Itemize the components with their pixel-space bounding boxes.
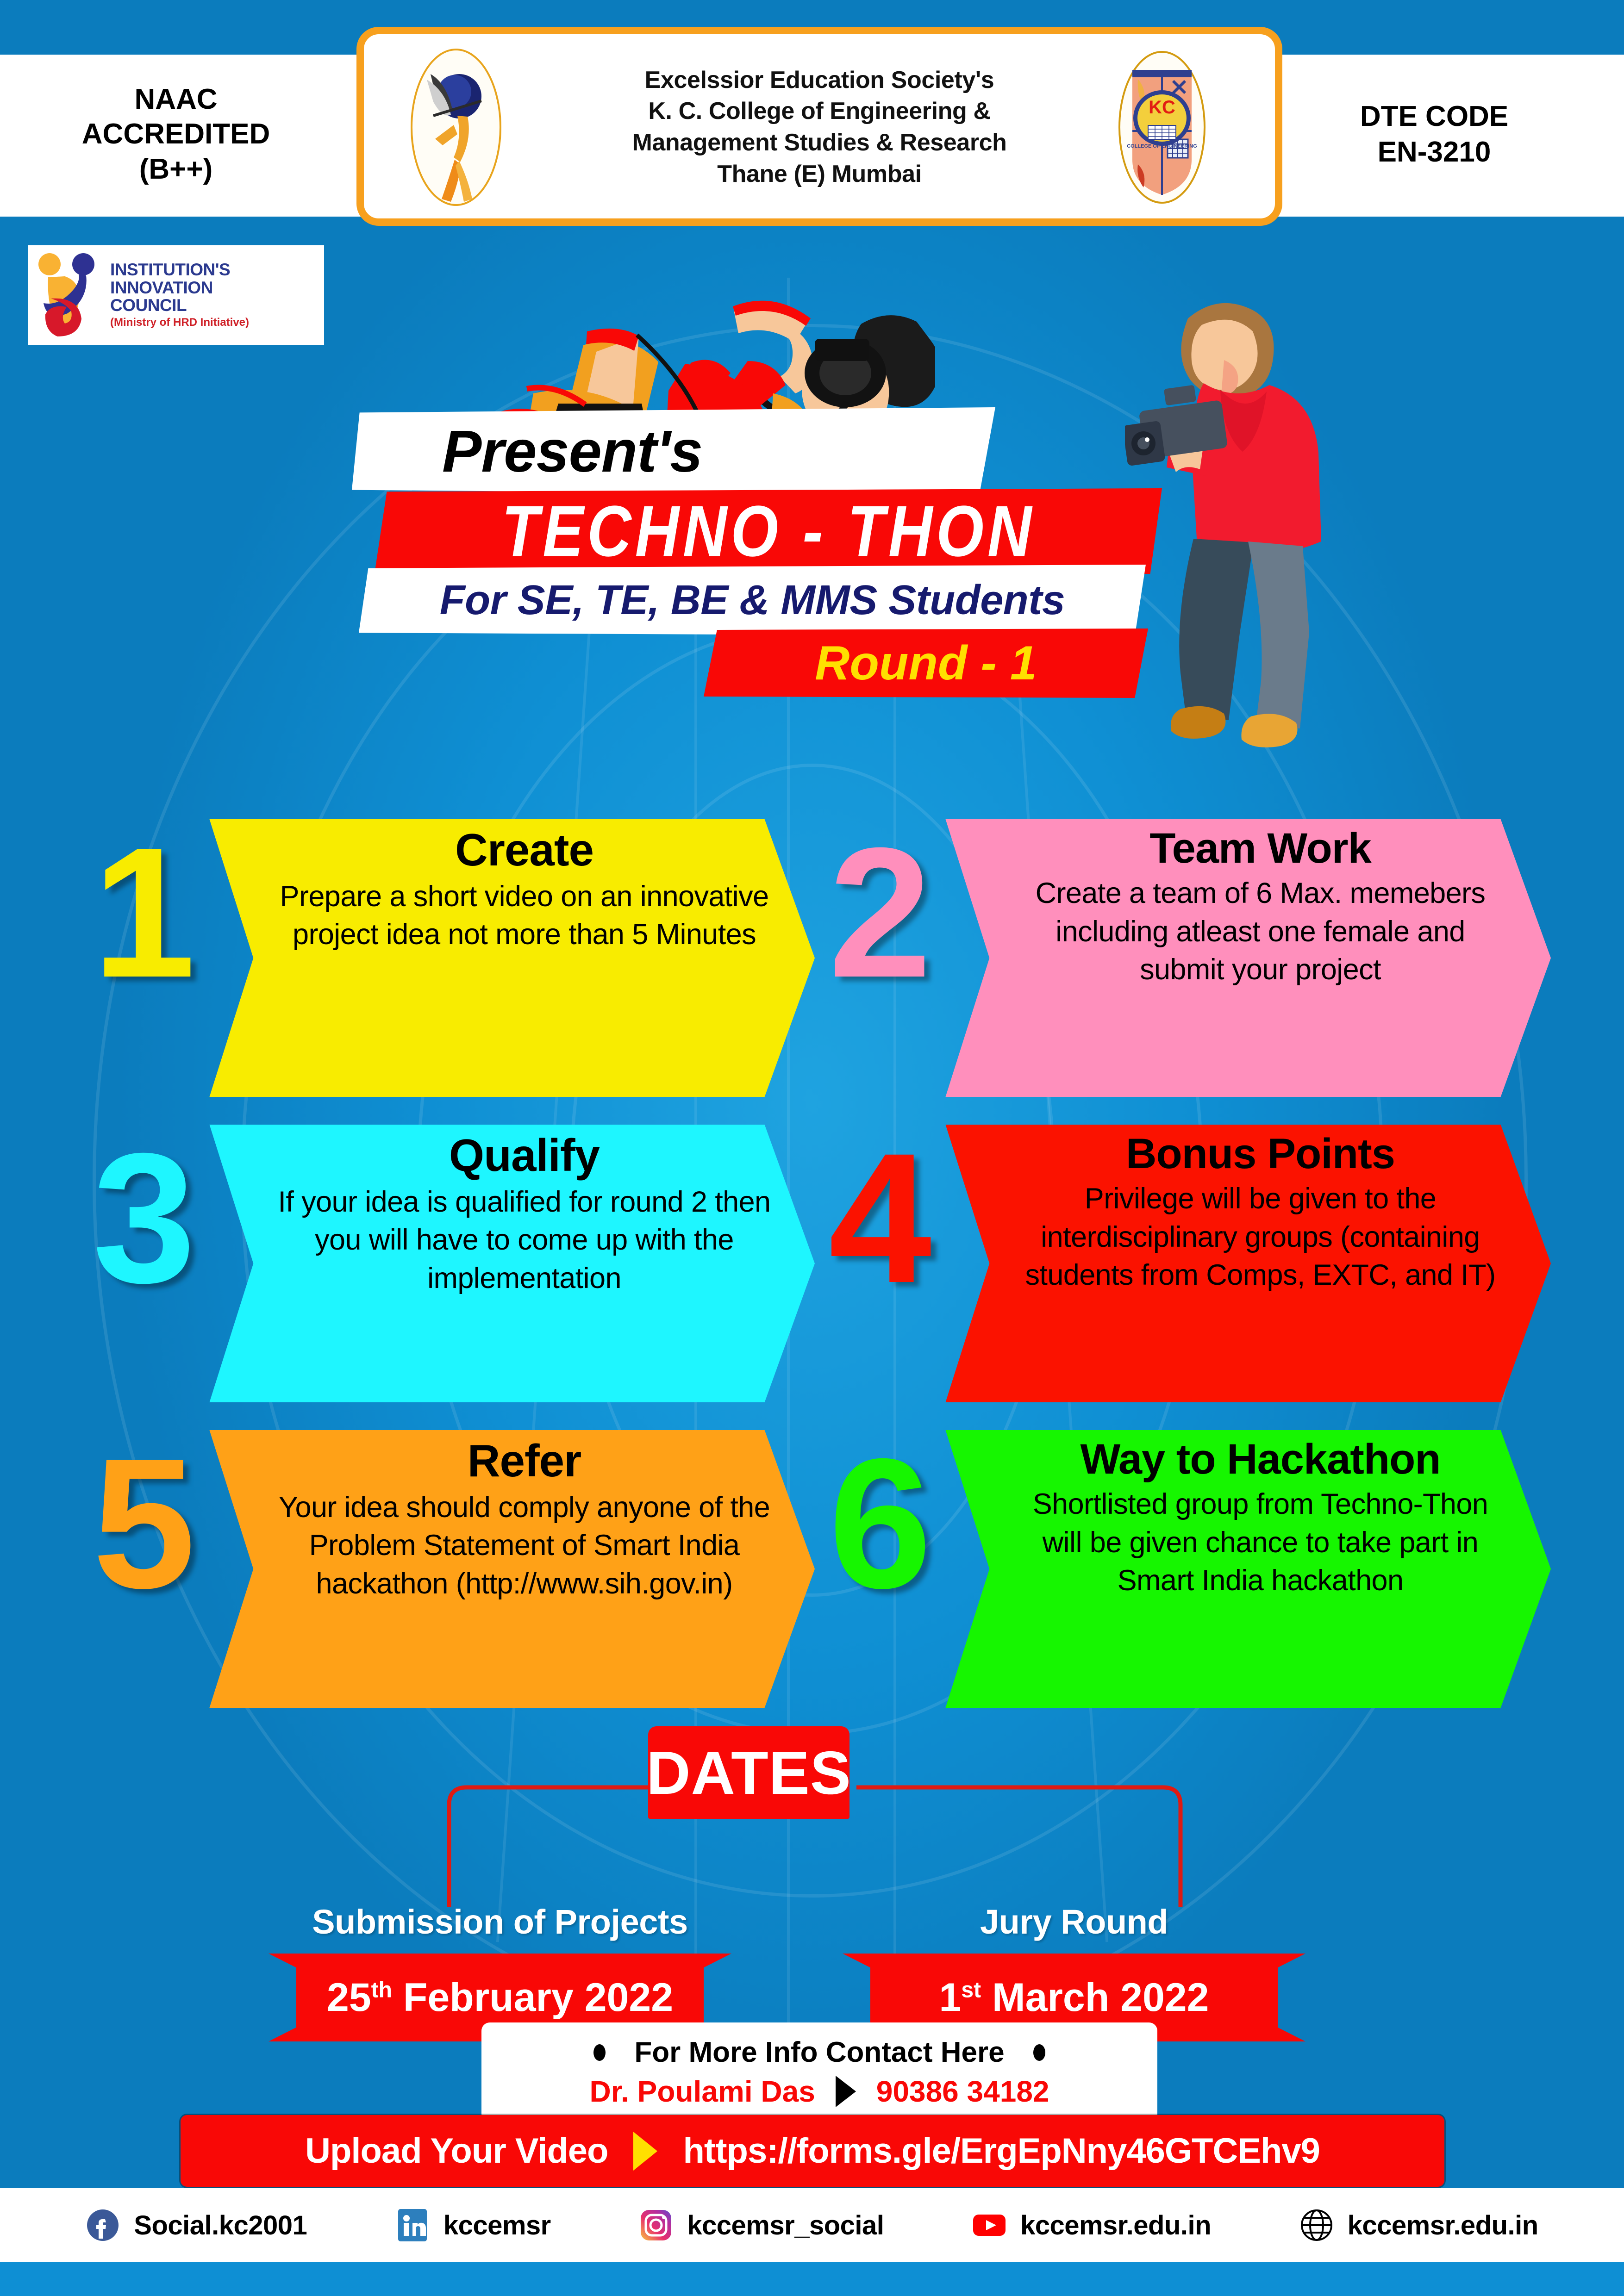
- social-footer: Social.kc2001 kccemsr kcce: [0, 2188, 1624, 2262]
- social-item-linkedin[interactable]: kccemsr: [395, 2208, 551, 2242]
- event-title-ribbon: TECHNO - THON: [375, 488, 1162, 574]
- college-line-2: K. C. College of Engineering &: [648, 96, 990, 127]
- college-line-4: Thane (E) Mumbai: [717, 159, 921, 190]
- step-number-1: 1: [93, 831, 195, 994]
- globe-icon[interactable]: [1299, 2208, 1334, 2242]
- iic-text: INSTITUTION'S INNOVATION COUNCIL (Minist…: [110, 261, 249, 329]
- step-text-2: Create a team of 6 Max. memebers includi…: [1012, 874, 1509, 989]
- step-title-1: Create: [455, 826, 593, 875]
- bullet-dot-left-icon: [593, 2044, 606, 2061]
- contact-person-row: Dr. Poulami Das 90386 34182: [590, 2074, 1049, 2109]
- upload-video-bar[interactable]: Upload Your Video https://forms.gle/ErgE…: [181, 2115, 1444, 2187]
- instagram-icon[interactable]: [639, 2208, 673, 2242]
- step-number-5: 5: [93, 1442, 195, 1605]
- step-number-4: 4: [829, 1137, 931, 1300]
- contact-phone-number[interactable]: 90386 34182: [876, 2074, 1049, 2109]
- excelssior-education-society-logo: [403, 46, 509, 208]
- naac-accreditation: NAAC ACCREDITED (B++): [28, 65, 324, 204]
- step-text-6: Shortlisted group from Techno-Thon will …: [1012, 1485, 1509, 1600]
- step-body-1: Create Prepare a short video on an innov…: [187, 819, 815, 1097]
- step-body-6: Way to Hackathon Shortlisted group from …: [924, 1430, 1551, 1708]
- step-body-2: Team Work Create a team of 6 Max. memebe…: [924, 819, 1551, 1097]
- linkedin-handle: kccemsr: [443, 2210, 551, 2241]
- upload-form-link[interactable]: https://forms.gle/ErgEpNny46GTCEhv9: [683, 2131, 1319, 2171]
- social-item-facebook[interactable]: Social.kc2001: [86, 2208, 307, 2242]
- social-item-instagram[interactable]: kccemsr_social: [639, 2208, 884, 2242]
- bullet-dot-right-icon: [1033, 2044, 1045, 2061]
- facebook-handle: Social.kc2001: [134, 2210, 307, 2241]
- arrow-right-icon: [836, 2076, 856, 2107]
- naac-line-1: NAAC: [134, 82, 217, 117]
- youtube-handle: kccemsr.edu.in: [1020, 2210, 1211, 2241]
- svg-text:KC: KC: [1149, 97, 1175, 118]
- college-line-1: Excelssior Education Society's: [645, 65, 994, 96]
- steps-grid: 1 Create Prepare a short video on an inn…: [0, 819, 1624, 1712]
- iic-line-3: COUNCIL: [110, 297, 249, 314]
- iic-line-1: INSTITUTION'S: [110, 261, 249, 279]
- date-value-submission: 25th February 2022: [327, 1975, 673, 2021]
- iic-logo-block: INSTITUTION'S INNOVATION COUNCIL (Minist…: [28, 245, 324, 345]
- contact-card: For More Info Contact Here Dr. Poulami D…: [481, 2022, 1157, 2122]
- dte-line-1: DTE CODE: [1360, 99, 1508, 135]
- naac-line-3: (B++): [139, 152, 212, 187]
- step-card-1: 1 Create Prepare a short video on an inn…: [93, 819, 815, 1097]
- step-body-3: Qualify If your idea is qualified for ro…: [187, 1125, 815, 1402]
- date-column-jury: Jury Round 1st March 2022: [829, 1902, 1319, 2041]
- website-handle: kccemsr.edu.in: [1348, 2210, 1538, 2241]
- contact-heading: For More Info Contact Here: [634, 2036, 1004, 2069]
- dates-section: DATES Submission of Projects 25th Februa…: [0, 1708, 1624, 2022]
- step-card-4: 4 Bonus Points Privilege will be given t…: [829, 1125, 1551, 1402]
- event-title-text: TECHNO - THON: [502, 490, 1036, 572]
- iic-line-4: (Ministry of HRD Initiative): [110, 316, 249, 329]
- upload-label: Upload Your Video: [305, 2131, 608, 2171]
- iic-mark-icon: [34, 252, 104, 338]
- step-title-4: Bonus Points: [1126, 1131, 1395, 1177]
- linkedin-icon[interactable]: [395, 2208, 430, 2242]
- footer-blue-strip: [0, 2262, 1624, 2296]
- step-title-6: Way to Hackathon: [1080, 1437, 1440, 1482]
- step-text-4: Privilege will be given to the interdisc…: [1012, 1180, 1509, 1294]
- step-body-4: Bonus Points Privilege will be given to …: [924, 1125, 1551, 1402]
- social-item-website[interactable]: kccemsr.edu.in: [1299, 2208, 1538, 2242]
- presents-ribbon: Present's: [352, 407, 995, 495]
- step-text-3: If your idea is qualified for round 2 th…: [275, 1183, 773, 1298]
- college-name: Excelssior Education Society's K. C. Col…: [523, 42, 1116, 213]
- dte-line-2: EN-3210: [1378, 134, 1491, 170]
- step-title-3: Qualify: [449, 1131, 600, 1180]
- step-card-6: 6 Way to Hackathon Shortlisted group fro…: [829, 1430, 1551, 1708]
- step-card-2: 2 Team Work Create a team of 6 Max. meme…: [829, 819, 1551, 1097]
- step-card-5: 5 Refer Your idea should comply anyone o…: [93, 1430, 815, 1708]
- step-number-6: 6: [829, 1442, 931, 1605]
- date-label-submission: Submission of Projects: [255, 1902, 745, 1941]
- dte-code: DTE CODE EN-3210: [1272, 69, 1596, 199]
- round-text: Round - 1: [815, 636, 1037, 691]
- step-text-1: Prepare a short video on an innovative p…: [275, 877, 773, 954]
- youtube-icon[interactable]: [972, 2208, 1006, 2242]
- svg-text:COLLEGE OF ENGINEERING: COLLEGE OF ENGINEERING: [1127, 143, 1197, 149]
- kc-college-crest-logo: KC COLLEGE OF ENGINEERING: [1111, 49, 1213, 206]
- college-line-3: Management Studies & Research: [632, 127, 1006, 159]
- date-column-submission: Submission of Projects 25th February 202…: [255, 1902, 745, 2041]
- step-number-3: 3: [93, 1137, 195, 1300]
- instagram-handle: kccemsr_social: [687, 2210, 884, 2241]
- step-body-5: Refer Your idea should comply anyone of …: [187, 1430, 815, 1708]
- iic-line-2: INNOVATION: [110, 279, 249, 297]
- audience-ribbon: For SE, TE, BE & MMS Students: [359, 565, 1146, 636]
- step-text-5: Your idea should comply anyone of the Pr…: [275, 1488, 773, 1603]
- round-ribbon: Round - 1: [704, 628, 1148, 698]
- contact-heading-row: For More Info Contact Here: [593, 2036, 1045, 2069]
- facebook-icon[interactable]: [86, 2208, 120, 2242]
- date-value-jury: 1st March 2022: [939, 1975, 1209, 2021]
- step-number-2: 2: [829, 831, 931, 994]
- date-label-jury: Jury Round: [829, 1902, 1319, 1941]
- step-card-3: 3 Qualify If your idea is qualified for …: [93, 1125, 815, 1402]
- title-block: Present's TECHNO - THON For SE, TE, BE &…: [0, 407, 1624, 787]
- dates-badge-text: DATES: [646, 1738, 851, 1808]
- step-title-5: Refer: [468, 1437, 581, 1486]
- audience-text: For SE, TE, BE & MMS Students: [440, 577, 1065, 624]
- social-item-youtube[interactable]: kccemsr.edu.in: [972, 2208, 1211, 2242]
- presents-text: Present's: [442, 417, 702, 485]
- arrow-right-icon: [633, 2132, 657, 2171]
- contact-person-name: Dr. Poulami Das: [590, 2074, 815, 2109]
- step-title-2: Team Work: [1149, 826, 1371, 871]
- dates-badge: DATES: [648, 1726, 849, 1819]
- naac-line-2: ACCREDITED: [82, 117, 270, 152]
